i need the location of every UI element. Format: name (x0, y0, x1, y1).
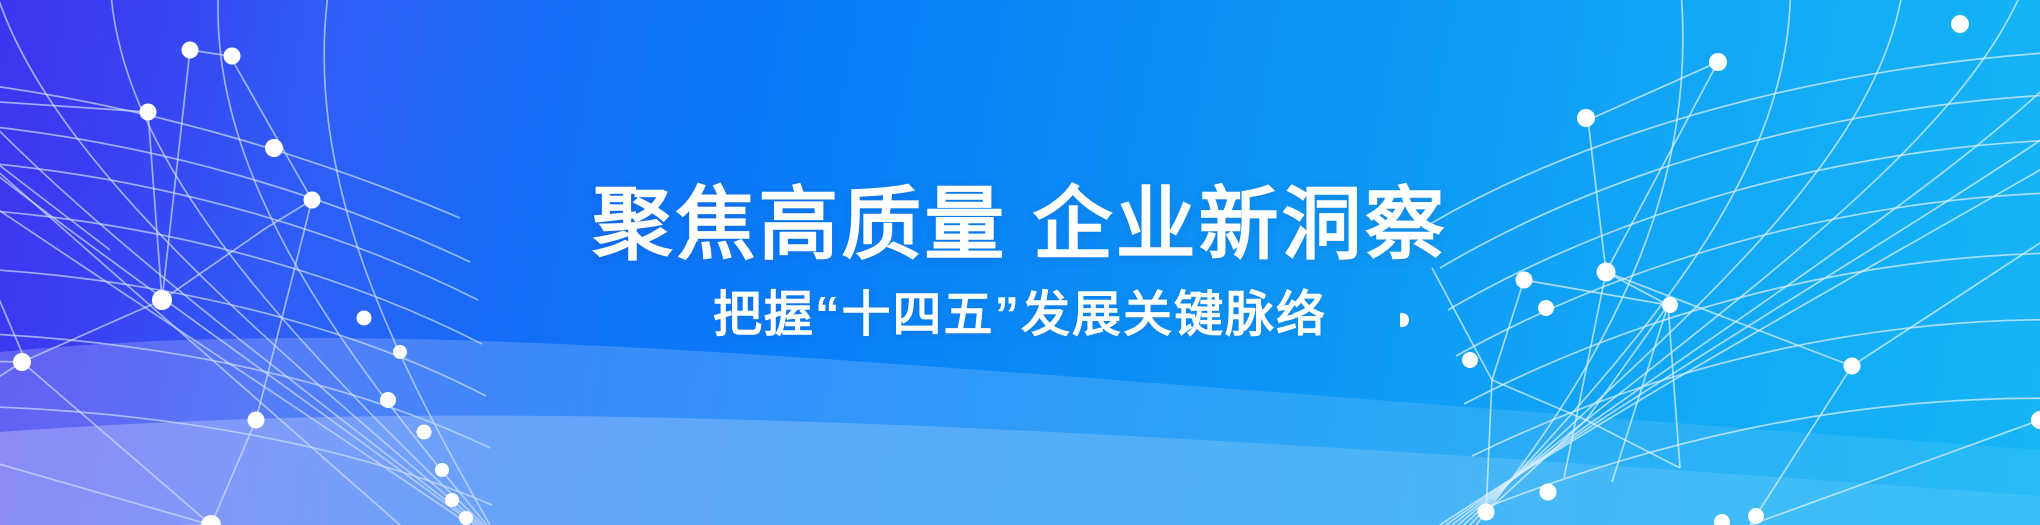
banner-subheadline: 把握“十四五”发展关键脉络 (713, 291, 1327, 340)
banner-headline: 聚焦高质量 企业新洞察 (592, 185, 1447, 265)
promo-banner: 聚焦高质量 企业新洞察 把握“十四五”发展关键脉络 (0, 0, 2040, 525)
banner-text-block: 聚焦高质量 企业新洞察 把握“十四五”发展关键脉络 (0, 0, 2040, 525)
